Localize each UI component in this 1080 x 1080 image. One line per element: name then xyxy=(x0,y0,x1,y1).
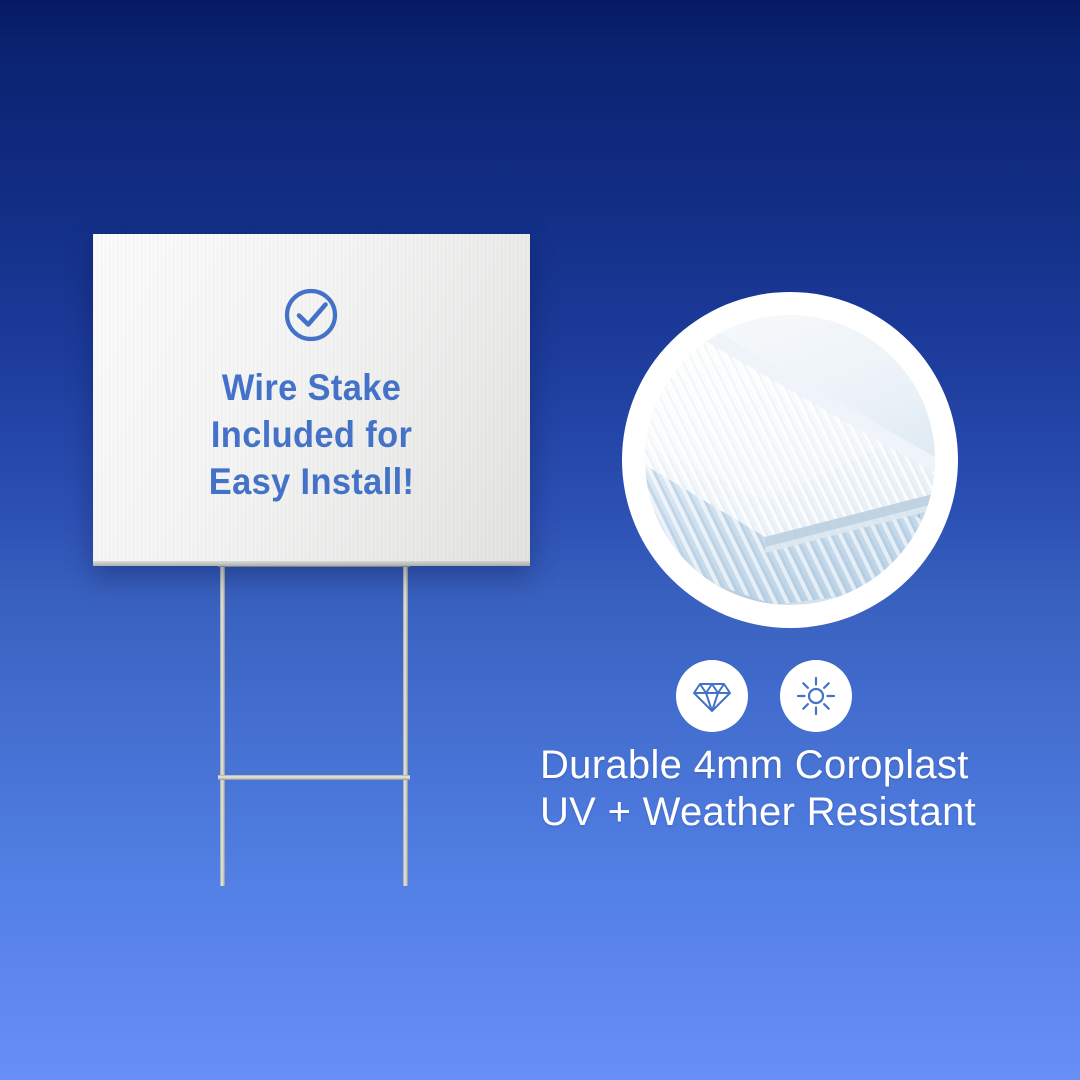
check-circle-icon xyxy=(280,282,344,346)
sign-content: Wire Stake Included for Easy Install! xyxy=(93,282,530,505)
product-feature-graphic: Wire Stake Included for Easy Install! xyxy=(0,0,1080,1080)
badge-durable xyxy=(676,660,748,732)
sign-headline: Wire Stake Included for Easy Install! xyxy=(209,364,415,505)
coroplast-photo-ring xyxy=(622,292,958,628)
coroplast-closeup-photo xyxy=(645,315,935,605)
badge-uv-resistant xyxy=(780,660,852,732)
sign-headline-line-1: Wire Stake xyxy=(209,364,415,411)
caption-line-2: UV + Weather Resistant xyxy=(540,789,1010,836)
sign-headline-line-2: Included for xyxy=(209,411,415,458)
sign-panel: Wire Stake Included for Easy Install! xyxy=(93,234,530,566)
stake-leg-right xyxy=(403,560,408,886)
coroplast-sheet-illustration xyxy=(645,315,935,605)
stake-leg-left xyxy=(220,560,225,886)
sun-icon xyxy=(795,675,837,717)
material-caption: Durable 4mm Coroplast UV + Weather Resis… xyxy=(540,742,1010,836)
feature-badge-group xyxy=(676,660,852,732)
caption-line-1: Durable 4mm Coroplast xyxy=(540,742,1010,789)
diamond-icon xyxy=(691,675,733,717)
stake-crossbar-bottom xyxy=(218,775,410,780)
yard-sign-with-stake: Wire Stake Included for Easy Install! xyxy=(0,0,620,960)
sign-headline-line-3: Easy Install! xyxy=(209,458,415,505)
